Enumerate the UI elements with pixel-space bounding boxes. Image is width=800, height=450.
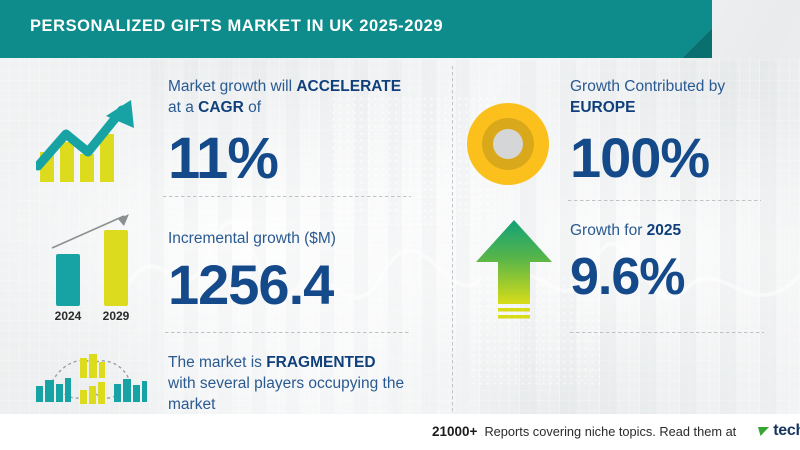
region-value: 100% (570, 130, 790, 186)
fragmentation-line1-plain: The market is (168, 354, 266, 371)
footer-text: Reports covering niche topics. Read them… (484, 424, 736, 439)
technavio-flag-icon (757, 425, 770, 438)
header: PERSONALIZED GIFTS MARKET IN UK 2025-202… (0, 0, 800, 58)
region-caption-plain: Growth Contributed by (570, 78, 725, 95)
region-caption: Growth Contributed by EUROPE (570, 76, 790, 118)
fragmentation-line3: market (168, 396, 215, 413)
footer: 21000+ Reports covering niche topics. Re… (0, 414, 800, 450)
cagr-caption-line1-bold: ACCELERATE (296, 78, 401, 95)
technavio-logo[interactable]: technavio® (757, 422, 800, 440)
cagr-value: 11% (168, 130, 438, 188)
growth-year-panel: Growth for 2025 9.6% (570, 220, 790, 303)
cagr-caption-line1-plain: Market growth will (168, 78, 296, 95)
divider-left-upper (163, 196, 411, 197)
fragmentation-panel: The market is FRAGMENTED with several pl… (168, 352, 448, 415)
technavio-wordmark: technavio® (773, 422, 800, 440)
bar-label-2029: 2029 (103, 309, 130, 323)
city-cluster-icon (30, 352, 150, 410)
divider-right-lower (570, 332, 764, 333)
cagr-caption-line2-bold: CAGR (198, 99, 244, 116)
incremental-growth-panel: Incremental growth ($M) 1256.4 (168, 228, 438, 313)
cagr-caption: Market growth will ACCELERATE at a CAGR … (168, 76, 438, 118)
growth-chart-arrow-icon (36, 92, 148, 184)
fragmentation-line2: with several players occupying the (168, 375, 404, 392)
footer-content: 21000+ Reports covering niche topics. Re… (432, 422, 800, 440)
growth-year-value: 9.6% (570, 251, 790, 303)
fragmentation-caption: The market is FRAGMENTED with several pl… (168, 352, 448, 415)
footer-report-count: 21000+ (432, 424, 477, 439)
donut-chart-icon (466, 102, 550, 186)
incremental-growth-value: 1256.4 (168, 257, 438, 313)
bar-label-2024: 2024 (55, 309, 82, 323)
up-arrow-icon (474, 218, 554, 322)
cagr-caption-line2-tail: of (244, 99, 261, 116)
page-title: PERSONALIZED GIFTS MARKET IN UK 2025-202… (30, 17, 443, 36)
region-caption-bold: EUROPE (570, 99, 635, 116)
incremental-growth-caption: Incremental growth ($M) (168, 228, 438, 249)
technavio-tech-text: tech (773, 422, 800, 439)
cagr-caption-line2-plain: at a (168, 99, 198, 116)
infographic-canvas: PERSONALIZED GIFTS MARKET IN UK 2025-202… (0, 0, 800, 450)
growth-year-caption-bold: 2025 (647, 222, 681, 239)
divider-right-upper (568, 200, 761, 201)
region-contribution-panel: Growth Contributed by EUROPE 100% (570, 76, 790, 186)
growth-year-caption: Growth for 2025 (570, 220, 790, 241)
divider-left-lower (165, 332, 411, 333)
cagr-panel: Market growth will ACCELERATE at a CAGR … (168, 76, 438, 188)
fragmentation-line1-bold: FRAGMENTED (266, 354, 375, 371)
two-bar-chart-icon: 2024 2029 (32, 212, 148, 324)
vertical-divider (452, 66, 453, 412)
growth-year-caption-plain: Growth for (570, 222, 647, 239)
